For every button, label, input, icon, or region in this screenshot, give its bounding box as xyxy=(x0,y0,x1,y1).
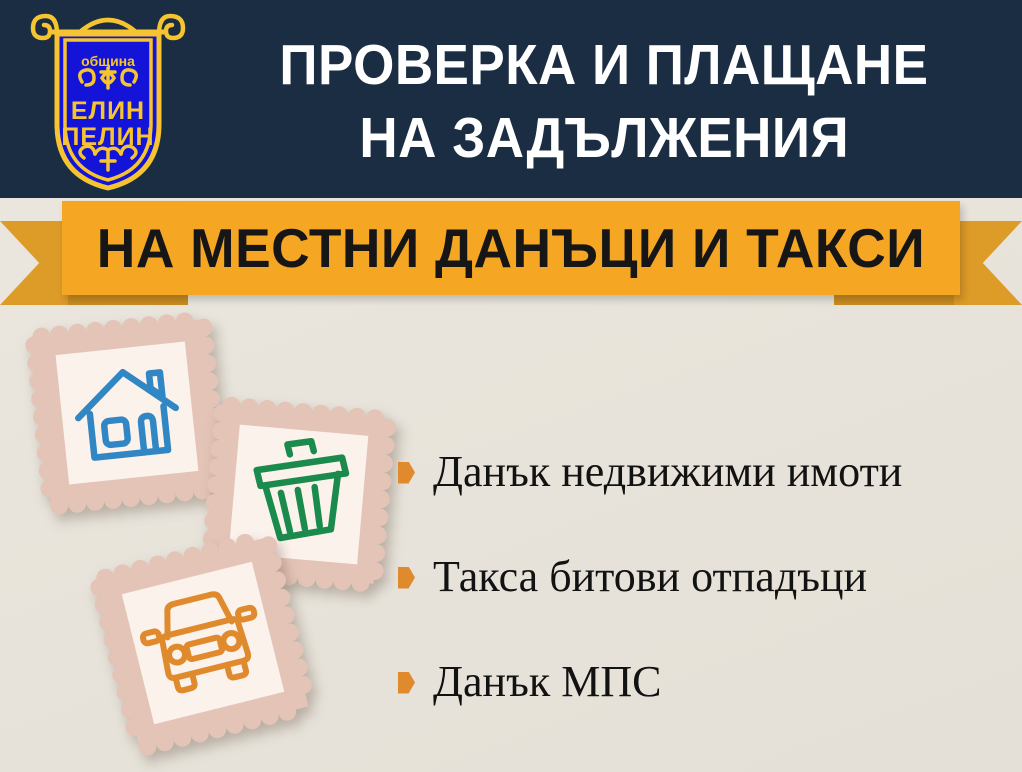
emblem-line-bottom: ПЕЛИН xyxy=(61,123,154,151)
ribbon-main-panel: НА МЕСТНИ ДАНЪЦИ И ТАКСИ xyxy=(62,201,960,295)
arrow-bullet-icon xyxy=(398,672,415,694)
page-title: ПРОВЕРКА И ПЛАЩАНЕ НА ЗАДЪЛЖЕНИЯ xyxy=(196,16,1012,188)
list-item[interactable]: Данък недвижими имоти xyxy=(398,420,1008,525)
list-item[interactable]: Данък МПС xyxy=(398,630,1008,735)
ribbon-banner: НА МЕСТНИ ДАНЪЦИ И ТАКСИ xyxy=(0,190,1022,310)
title-line-1: ПРОВЕРКА И ПЛАЩАНЕ xyxy=(279,37,928,94)
stamp-vehicle-graphic xyxy=(88,528,318,758)
coat-of-arms-icon: община ЕЛИН ПЕЛИН xyxy=(24,6,192,192)
title-line-2: НА ЗАДЪЛЖЕНИЯ xyxy=(359,110,849,167)
tax-type-list: Данък недвижими имоти Такса битови отпад… xyxy=(398,420,1008,735)
emblem-line-mid: ЕЛИН xyxy=(71,97,145,125)
ribbon-subtitle: НА МЕСТНИ ДАНЪЦИ И ТАКСИ xyxy=(97,216,925,280)
list-item-label: Данък МПС xyxy=(433,658,661,706)
arrow-bullet-icon xyxy=(398,567,415,589)
list-item[interactable]: Такса битови отпадъци xyxy=(398,525,1008,630)
coat-of-arms-elin-pelin: община ЕЛИН ПЕЛИН xyxy=(24,6,192,192)
list-item-label: Такса битови отпадъци xyxy=(433,553,867,601)
list-item-label: Данък недвижими имоти xyxy=(433,448,902,496)
stamp-vehicle-tax xyxy=(88,528,318,758)
arrow-bullet-icon xyxy=(398,462,415,484)
poster-canvas: община ЕЛИН ПЕЛИН ПРОВЕРКА xyxy=(0,0,1022,772)
